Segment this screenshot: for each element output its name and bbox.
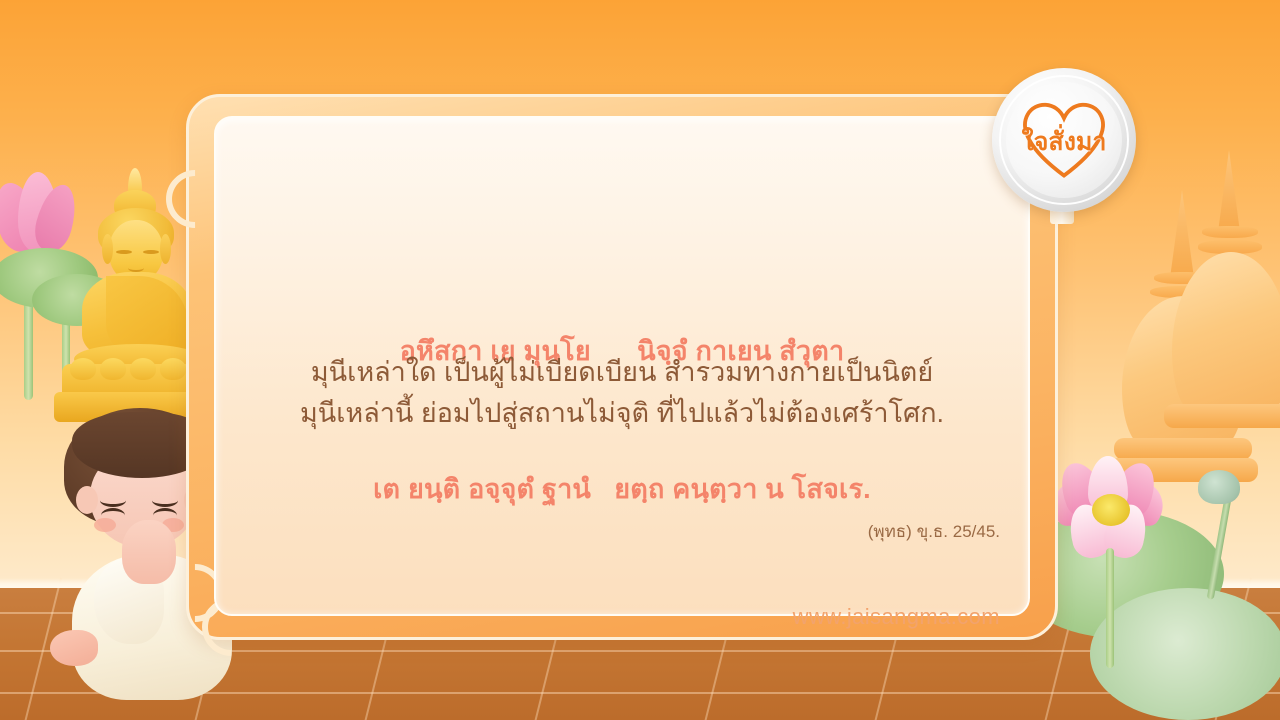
thai-translation: มุนีเหล่าใด เป็นผู้ไม่เบียดเบียน สำรวมทา… bbox=[214, 352, 1030, 434]
logo-text: ใจสั่งมา bbox=[1022, 122, 1107, 162]
quote-card-page: อหึสกา เย มุนโย นิจฺจํ กาเยน สํวุตา เต ย… bbox=[0, 0, 1280, 720]
website-url[interactable]: www.jaisangma.com bbox=[214, 604, 1000, 630]
pagoda-stupa-small bbox=[1162, 150, 1280, 480]
lily-pad bbox=[1090, 588, 1280, 720]
thai-line-1: มุนีเหล่าใด เป็นผู้ไม่เบียดเบียน สำรวมทา… bbox=[214, 352, 1030, 393]
lotus-stem bbox=[1106, 548, 1114, 668]
lotus-seed-pod bbox=[1198, 470, 1240, 504]
thai-line-2: มุนีเหล่านี้ ย่อมไปสู่สถานไม่จุติ ที่ไปแ… bbox=[214, 393, 1030, 434]
pink-lotus-flower-icon bbox=[1048, 456, 1168, 562]
jaisangma-logo-badge[interactable]: ใจสั่งมา bbox=[992, 68, 1136, 212]
pali-line-2: เต ยนฺติ อจฺจุตํ ฐานํ ยตฺถ คนฺตฺวา น โสจ… bbox=[214, 466, 1030, 512]
lotus-flower-decoration bbox=[1020, 452, 1280, 720]
lotus-center bbox=[1092, 494, 1130, 526]
scripture-citation: (พุทธ) ขุ.ธ. 25/45. bbox=[214, 518, 1000, 545]
